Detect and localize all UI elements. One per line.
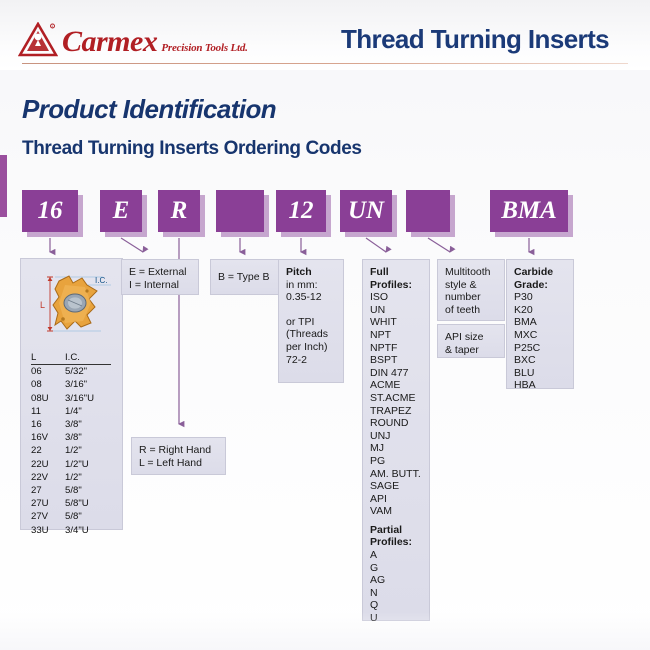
carbide-grade-item: K20 (514, 304, 566, 317)
insert-geometry-icon: L I.C. (25, 263, 120, 351)
header-divider (22, 63, 628, 64)
multitooth-line3: number (445, 291, 497, 304)
full-profile-item: WHIT (370, 316, 422, 329)
internal-line: I = Internal (129, 279, 191, 292)
cell-ic: 1/2" (65, 444, 111, 457)
cell-l: 22U (31, 458, 65, 471)
table-header-l: L (31, 351, 65, 365)
carbide-grade-box: Carbide Grade: P30 K20 BMA MXC P25C BXC … (506, 259, 574, 389)
cell-ic: 3/8" (65, 431, 111, 444)
full-profile-item: SAGE (370, 480, 422, 493)
code-box-multitooth[interactable] (406, 190, 450, 232)
code-box-pitch[interactable]: 12 (276, 190, 326, 232)
cell-l: 11 (31, 405, 65, 418)
full-profile-item: UNJ (370, 430, 422, 443)
cell-l: 16 (31, 418, 65, 431)
full-profile-item: ISO (370, 291, 422, 304)
full-profile-item: NPTF (370, 342, 422, 355)
multitooth-line1: Multitooth (445, 266, 497, 279)
table-row: 22U1/2"U (31, 458, 119, 471)
length-ic-table: L I.C. 065/32" 083/16" 08U3/16"U 111/4" … (31, 351, 119, 537)
type-line: B = Type B (218, 271, 269, 284)
cell-l: 22V (31, 471, 65, 484)
type-box: B = Type B (210, 259, 286, 295)
full-profile-item: ST.ACME (370, 392, 422, 405)
pitch-tpi-note2: per Inch) (286, 341, 336, 354)
full-profile-item: BSPT (370, 354, 422, 367)
full-profile-item: ROUND (370, 417, 422, 430)
table-row: 27V5/8" (31, 510, 119, 523)
cell-l: 27V (31, 510, 65, 523)
code-box-hand[interactable] (216, 190, 264, 232)
left-hand-line: L = Left Hand (139, 457, 218, 470)
carbide-grade-item: P25C (514, 342, 566, 355)
pitch-mm-label: in mm: (286, 279, 336, 292)
table-row: 221/2" (31, 444, 119, 457)
product-identification-page: R Carmex Precision Tools Ltd. Thread Tur… (0, 0, 650, 650)
full-profile-item: VAM (370, 505, 422, 518)
brand-logo: R Carmex Precision Tools Ltd. (18, 22, 248, 58)
code-box-size[interactable]: 16 (22, 190, 78, 232)
full-profile-item: API (370, 493, 422, 506)
full-profile-item: AM. BUTT. (370, 468, 422, 481)
carmex-triangle-logo-icon: R (18, 22, 58, 58)
full-profiles-title-line2: Profiles: (370, 279, 422, 292)
left-accent-bar (0, 155, 7, 217)
table-header-row: L I.C. (31, 351, 119, 365)
insert-dimension-card: L I.C. L I.C. 065/32" 083/16" 08U3/16"U … (20, 258, 123, 530)
carbide-grade-item: MXC (514, 329, 566, 342)
cell-l: 16V (31, 431, 65, 444)
table-row: 275/8" (31, 484, 119, 497)
full-profile-item: TRAPEZ (370, 405, 422, 418)
page-subtitle: Thread Turning Inserts Ordering Codes (22, 138, 362, 160)
code-box-grade[interactable]: BMA (490, 190, 568, 232)
cell-ic: 5/8" (65, 510, 111, 523)
pitch-tpi-label: or TPI (286, 316, 336, 329)
cell-l: 08U (31, 392, 65, 405)
api-line2: & taper (445, 344, 497, 357)
right-hand-line: R = Right Hand (139, 444, 218, 457)
table-row: 27U5/8"U (31, 497, 119, 510)
partial-profile-item: G (370, 562, 422, 575)
cell-ic: 5/8" (65, 484, 111, 497)
cell-ic: 1/4" (65, 405, 111, 418)
cell-l: 27 (31, 484, 65, 497)
table-row: 33U3/4"U (31, 524, 119, 537)
svg-text:R: R (51, 25, 53, 29)
cell-ic: 3/16" (65, 378, 111, 391)
table-row: 111/4" (31, 405, 119, 418)
full-profile-item: ACME (370, 379, 422, 392)
code-box-profile[interactable]: UN (340, 190, 392, 232)
carbide-title-line2: Grade: (514, 279, 566, 292)
full-profile-item: NPT (370, 329, 422, 342)
page-title: Product Identification (22, 94, 276, 125)
cell-ic: 1/2" (65, 471, 111, 484)
partial-profile-item: N (370, 587, 422, 600)
table-row: 22V1/2" (31, 471, 119, 484)
pitch-tpi-note1: (Threads (286, 328, 336, 341)
hand-direction-box: R = Right Hand L = Left Hand (131, 437, 226, 475)
table-row: 08U3/16"U (31, 392, 119, 405)
table-row: 083/16" (31, 378, 119, 391)
cell-l: 22 (31, 444, 65, 457)
multitooth-line2: style & (445, 279, 497, 292)
partial-profiles-title-line2: Profiles: (370, 536, 422, 549)
full-profile-item: DIN 477 (370, 367, 422, 380)
cell-ic: 3/16"U (65, 392, 111, 405)
full-profile-item: MJ (370, 442, 422, 455)
cell-l: 33U (31, 524, 65, 537)
table-row: 16V3/8" (31, 431, 119, 444)
svg-text:I.C.: I.C. (95, 276, 107, 285)
api-size-box: API size & taper (437, 324, 505, 358)
partial-profiles-title-line1: Partial (370, 524, 422, 537)
carbide-grade-item: BMA (514, 316, 566, 329)
logo-wordmark: Carmex (62, 27, 157, 57)
cell-ic: 1/2"U (65, 458, 111, 471)
api-line1: API size (445, 331, 497, 344)
full-profile-item: PG (370, 455, 422, 468)
partial-profile-item: AG (370, 574, 422, 587)
profiles-box: Full Profiles: ISO UN WHIT NPT NPTF BSPT… (362, 259, 430, 621)
carbide-grade-item: HBA (514, 379, 566, 392)
carbide-grade-item: P30 (514, 291, 566, 304)
page-bottom-gradient (0, 612, 650, 650)
multitooth-box: Multitooth style & number of teeth (437, 259, 505, 321)
cell-ic: 5/32" (65, 365, 111, 378)
code-box-type[interactable]: R (158, 190, 200, 232)
code-box-ext-int[interactable]: E (100, 190, 142, 232)
cell-l: 27U (31, 497, 65, 510)
pitch-box: Pitch in mm: 0.35-12 or TPI (Threads per… (278, 259, 344, 383)
table-row: 065/32" (31, 365, 119, 378)
logo-tagline: Precision Tools Ltd. (161, 42, 247, 54)
external-line: E = External (129, 266, 191, 279)
partial-profile-item: Q (370, 599, 422, 612)
pitch-tpi-range: 72-2 (286, 354, 336, 367)
full-profiles-title-line1: Full (370, 266, 422, 279)
header-title: Thread Turning Inserts (310, 24, 640, 55)
cell-ic: 3/8" (65, 418, 111, 431)
external-internal-box: E = External I = Internal (121, 259, 199, 295)
cell-ic: 3/4"U (65, 524, 111, 537)
partial-profile-item: A (370, 549, 422, 562)
svg-text:L: L (40, 300, 45, 310)
cell-l: 06 (31, 365, 65, 378)
carbide-grade-item: BXC (514, 354, 566, 367)
multitooth-line4: of teeth (445, 304, 497, 317)
table-header-ic: I.C. (65, 351, 111, 365)
table-row: 163/8" (31, 418, 119, 431)
carbide-grade-item: BLU (514, 367, 566, 380)
pitch-title: Pitch (286, 266, 336, 279)
page-header: R Carmex Precision Tools Ltd. Thread Tur… (0, 0, 650, 70)
cell-ic: 5/8"U (65, 497, 111, 510)
carbide-title-line1: Carbide (514, 266, 566, 279)
pitch-mm-range: 0.35-12 (286, 291, 336, 304)
full-profile-item: UN (370, 304, 422, 317)
cell-l: 08 (31, 378, 65, 391)
